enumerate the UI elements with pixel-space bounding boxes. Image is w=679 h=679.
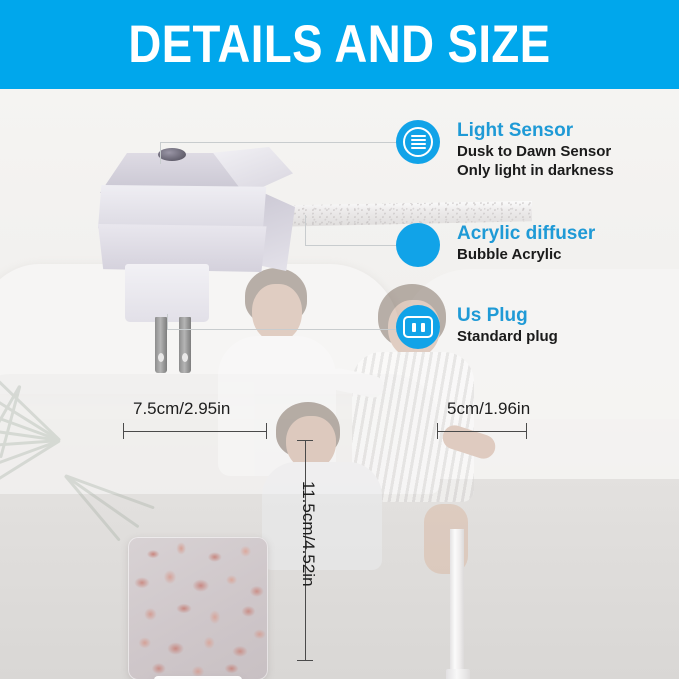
dimension-tick-depth-right <box>526 423 527 439</box>
dimension-label-depth: 5cm/1.96in <box>447 399 530 419</box>
us-plug-icon <box>396 305 440 349</box>
header-banner: DETAILS AND SIZE <box>0 0 679 89</box>
product-detail-image: DETAILS AND SIZE <box>0 0 679 679</box>
acrylic-diffuser-icon <box>396 223 440 267</box>
callout-line-2: Only light in darkness <box>457 161 614 180</box>
side-panel-edge <box>450 529 464 675</box>
dimension-line-depth <box>437 431 526 432</box>
light-sensor-icon <box>396 120 440 164</box>
leader-line-sensor-vertical <box>160 142 161 164</box>
callout-title: Us Plug <box>457 305 558 327</box>
leader-line-plug-vertical <box>167 314 168 330</box>
leader-line-diffuser-vertical <box>305 215 306 246</box>
scene: Light Sensor Dusk to Dawn Sensor Only li… <box>0 89 679 679</box>
dimension-tick-height-top <box>297 440 313 441</box>
side-panel-cap <box>446 669 470 679</box>
dimension-tick-width-right <box>266 423 267 439</box>
callout-us-plug: Us Plug Standard plug <box>396 305 558 349</box>
dimension-tick-height-bottom <box>297 660 313 661</box>
product-side-view <box>430 529 550 679</box>
callout-line-1: Standard plug <box>457 327 558 346</box>
plug-prongs <box>155 317 191 375</box>
product-angled-view <box>95 139 415 339</box>
light-sensor-lens <box>158 148 186 161</box>
product-front-view <box>128 537 268 679</box>
leader-line-diffuser-horizontal <box>305 245 396 246</box>
callout-line-1: Bubble Acrylic <box>457 245 595 264</box>
callout-line-1: Dusk to Dawn Sensor <box>457 142 614 161</box>
dimension-line-width <box>123 431 266 432</box>
leader-line-sensor-horizontal <box>160 142 396 143</box>
callout-acrylic-diffuser: Acrylic diffuser Bubble Acrylic <box>396 223 595 267</box>
housing-face-upper <box>98 185 268 230</box>
callout-title: Light Sensor <box>457 120 614 142</box>
dimension-label-width: 7.5cm/2.95in <box>133 399 230 419</box>
callout-title: Acrylic diffuser <box>457 223 595 245</box>
page-title: DETAILS AND SIZE <box>128 18 550 71</box>
dimension-tick-depth-left <box>437 423 438 439</box>
palm-plant-decor <box>0 344 170 534</box>
callout-light-sensor: Light Sensor Dusk to Dawn Sensor Only li… <box>396 120 614 180</box>
dimension-label-height: 11.5cm/4.52in <box>298 481 318 587</box>
dimension-tick-width-left <box>123 423 124 439</box>
leopard-print-diffuser-face <box>128 537 268 679</box>
leader-line-plug-horizontal <box>167 329 396 330</box>
